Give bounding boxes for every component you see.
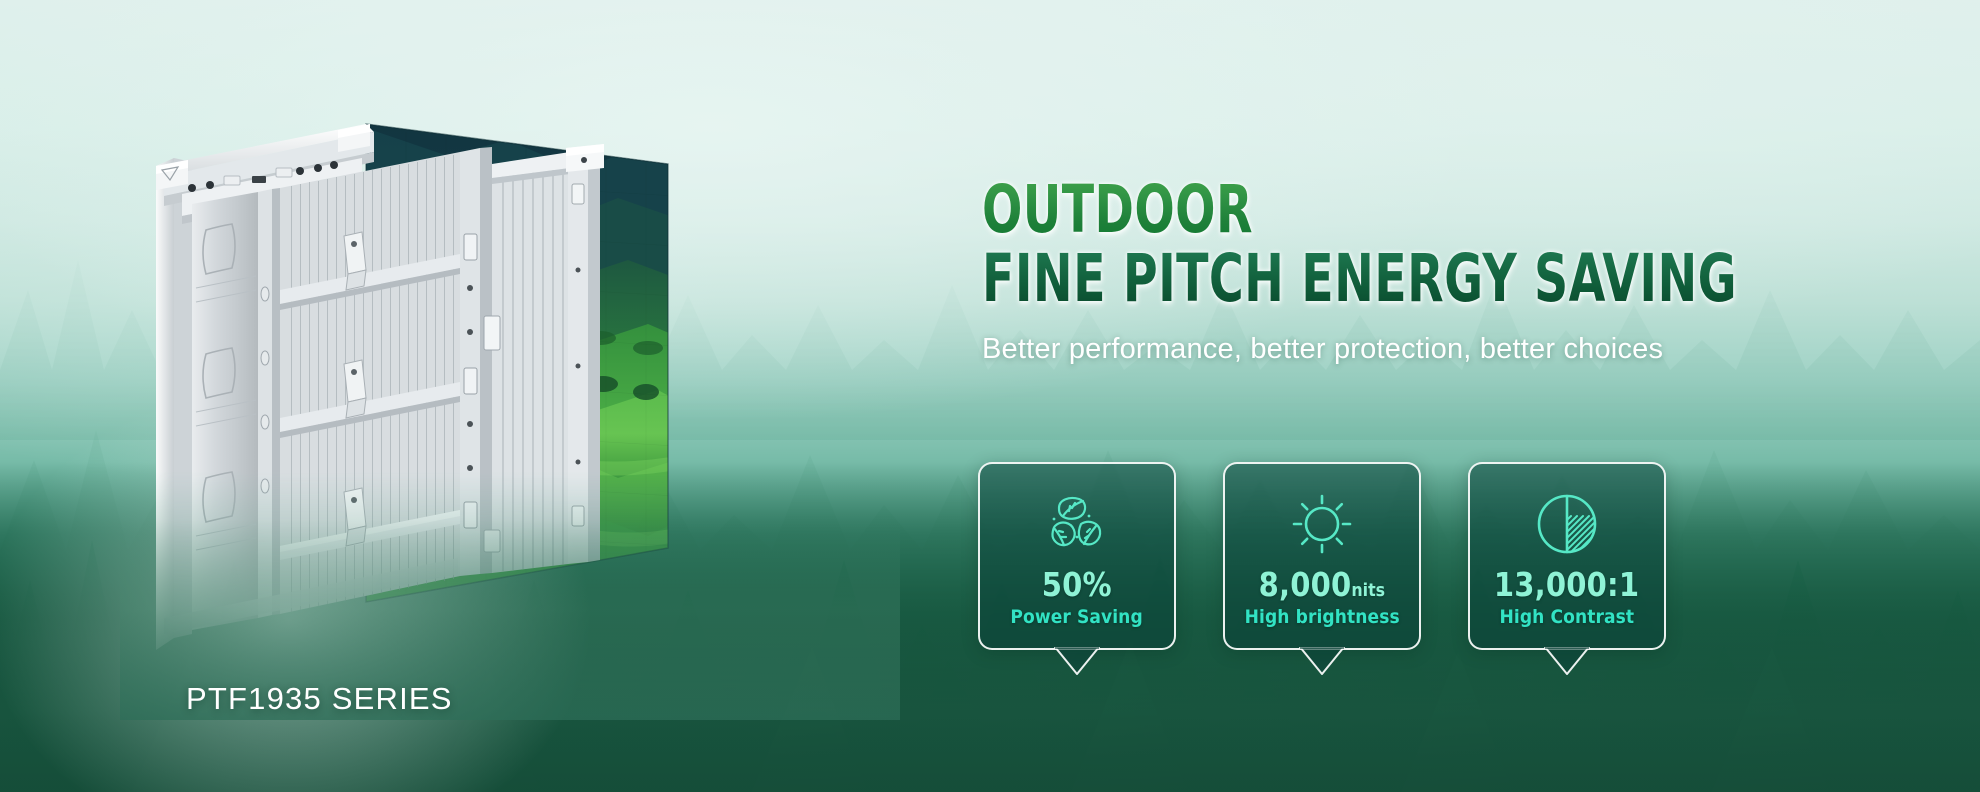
led-display-cabinet [148,118,858,688]
headline-line-1: OUTDOOR [982,178,1734,241]
feature-cards: 50% Power Saving [978,462,1666,650]
feature-label-contrast: High Contrast [1500,608,1635,627]
feature-value-unit: nits [1352,580,1386,601]
feature-card-brightness-wrap: 8,000nits High brightness [1223,462,1421,650]
feature-card-contrast-wrap: 13,000:1 High Contrast [1468,462,1666,650]
sun-icon [1284,486,1360,562]
card-tail-contrast [1544,647,1590,675]
card-tail-brightness [1299,647,1345,675]
product-series-label: PTF1935 SERIES [186,681,453,717]
feature-card-brightness[interactable]: 8,000nits High brightness [1223,462,1421,650]
headline-line-2: FINE PITCH ENERGY SAVING [982,247,1734,310]
headline-block: OUTDOOR FINE PITCH ENERGY SAVING Better … [982,178,1922,366]
leaves-icon [1039,486,1115,562]
feature-value-number: 8,000 [1259,565,1352,604]
feature-label-power-saving: Power Saving [1011,608,1143,627]
feature-value-number: 13,000:1 [1494,565,1639,604]
subtitle-text: Better performance, better protection, b… [982,333,1922,366]
feature-card-power-saving-wrap: 50% Power Saving [978,462,1176,650]
feature-card-contrast[interactable]: 13,000:1 High Contrast [1468,462,1666,650]
feature-value-contrast: 13,000:1 [1494,568,1639,601]
feature-card-power-saving[interactable]: 50% Power Saving [978,462,1176,650]
feature-value-number: 50% [1042,565,1112,604]
card-tail-power-saving [1054,647,1100,675]
feature-label-brightness: High brightness [1244,608,1399,627]
feature-value-brightness: 8,000nits [1259,568,1385,601]
contrast-icon [1529,486,1605,562]
promo-banner: PTF1935 SERIES OUTDOOR FINE PITCH ENERGY… [0,0,1980,792]
feature-value-power-saving: 50% [1042,568,1112,601]
